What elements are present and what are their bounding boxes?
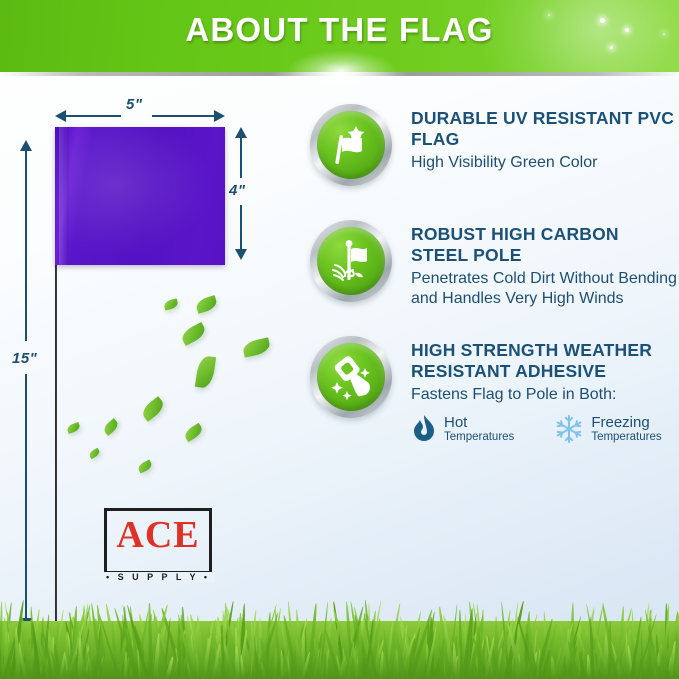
pole-arrow-top-head — [20, 140, 32, 151]
leaf-icon — [163, 298, 179, 310]
leaf-icon — [66, 422, 81, 434]
feature-text: DURABLE UV RESISTANT PVC FLAG High Visib… — [411, 104, 679, 173]
temperature-name: Hot — [444, 415, 514, 431]
leaf-icon — [195, 355, 216, 389]
feature-subtitle: Fastens Flag to Pole in Both: — [411, 385, 679, 405]
glue-bottle-icon — [317, 343, 385, 411]
flag-pole-wind-icon — [317, 227, 385, 295]
leaf-icon — [195, 295, 219, 314]
leaf-icon — [88, 448, 101, 460]
feature-subtitle: Penetrates Cold Dirt Without Bending and… — [411, 269, 679, 309]
temperature-sub: Temperatures — [444, 431, 514, 443]
feature-title: HIGH STRENGTH WEATHER RESISTANT ADHESIVE — [411, 340, 679, 382]
temperature-badge-hot: Hot Temperatures — [411, 414, 514, 444]
feature-text: ROBUST HIGH CARBON STEEL POLE Penetrates… — [411, 220, 679, 309]
logo-tagline: • S U P P L Y • — [101, 572, 215, 582]
temperature-name: Freezing — [591, 415, 661, 431]
snowflake-icon — [554, 414, 584, 444]
grass-strip — [0, 587, 679, 679]
pole-arrow-line-top — [25, 151, 27, 341]
header-banner: ABOUT THE FLAG — [0, 0, 679, 72]
temperature-sub: Temperatures — [591, 431, 661, 443]
width-arrow-left-head — [55, 110, 66, 122]
feature-text: HIGH STRENGTH WEATHER RESISTANT ADHESIVE… — [411, 336, 679, 405]
infographic-canvas: ABOUT THE FLAG 5" 4" 15" ACE • S U P P L… — [0, 0, 679, 679]
flag-width-label: 5" — [126, 96, 142, 113]
leaf-icon — [102, 418, 121, 436]
brand-logo: ACE • S U P P L Y • — [104, 508, 212, 574]
banner-divider — [0, 72, 679, 76]
logo-brand-text: ACE — [104, 514, 212, 556]
leaf-icon — [137, 459, 153, 473]
leaf-icon — [242, 337, 272, 357]
temperature-label: Hot Temperatures — [444, 415, 514, 443]
width-arrow-right-head — [214, 110, 225, 122]
feature-item: ROBUST HIGH CARBON STEEL POLE Penetrates… — [310, 220, 679, 312]
temperature-label: Freezing Temperatures — [591, 415, 661, 443]
leaf-icon — [179, 322, 208, 346]
pole-arrow-line-bottom — [25, 374, 27, 618]
height-arrow-line-top — [240, 138, 242, 178]
flame-icon — [411, 414, 437, 444]
leaf-icon — [139, 396, 167, 422]
feature-item: HIGH STRENGTH WEATHER RESISTANT ADHESIVE… — [310, 336, 679, 444]
height-arrow-line-bottom — [240, 205, 242, 249]
purple-flag — [55, 127, 225, 265]
feature-title: DURABLE UV RESISTANT PVC FLAG — [411, 108, 679, 150]
feature-item: DURABLE UV RESISTANT PVC FLAG High Visib… — [310, 104, 679, 196]
width-arrow-line-right — [152, 115, 214, 117]
feature-icon-badge — [310, 104, 392, 186]
page-title: ABOUT THE FLAG — [0, 11, 679, 49]
height-arrow-top-head — [235, 127, 247, 138]
height-arrow-bottom-head — [235, 249, 247, 260]
feature-icon-badge — [310, 220, 392, 302]
flag-height-label: 4" — [229, 182, 245, 199]
leaf-icon — [183, 423, 205, 442]
pole-height-label: 15" — [12, 350, 37, 367]
feature-title: ROBUST HIGH CARBON STEEL POLE — [411, 224, 679, 266]
temperature-badges: Hot Temperatures Freezing — [411, 414, 679, 444]
feature-subtitle: High Visibility Green Color — [411, 153, 679, 173]
feature-list: DURABLE UV RESISTANT PVC FLAG High Visib… — [310, 104, 679, 468]
width-arrow-line-left — [66, 115, 121, 117]
flag-sun-icon — [317, 111, 385, 179]
feature-icon-badge — [310, 336, 392, 418]
temperature-badge-freezing: Freezing Temperatures — [554, 414, 661, 444]
